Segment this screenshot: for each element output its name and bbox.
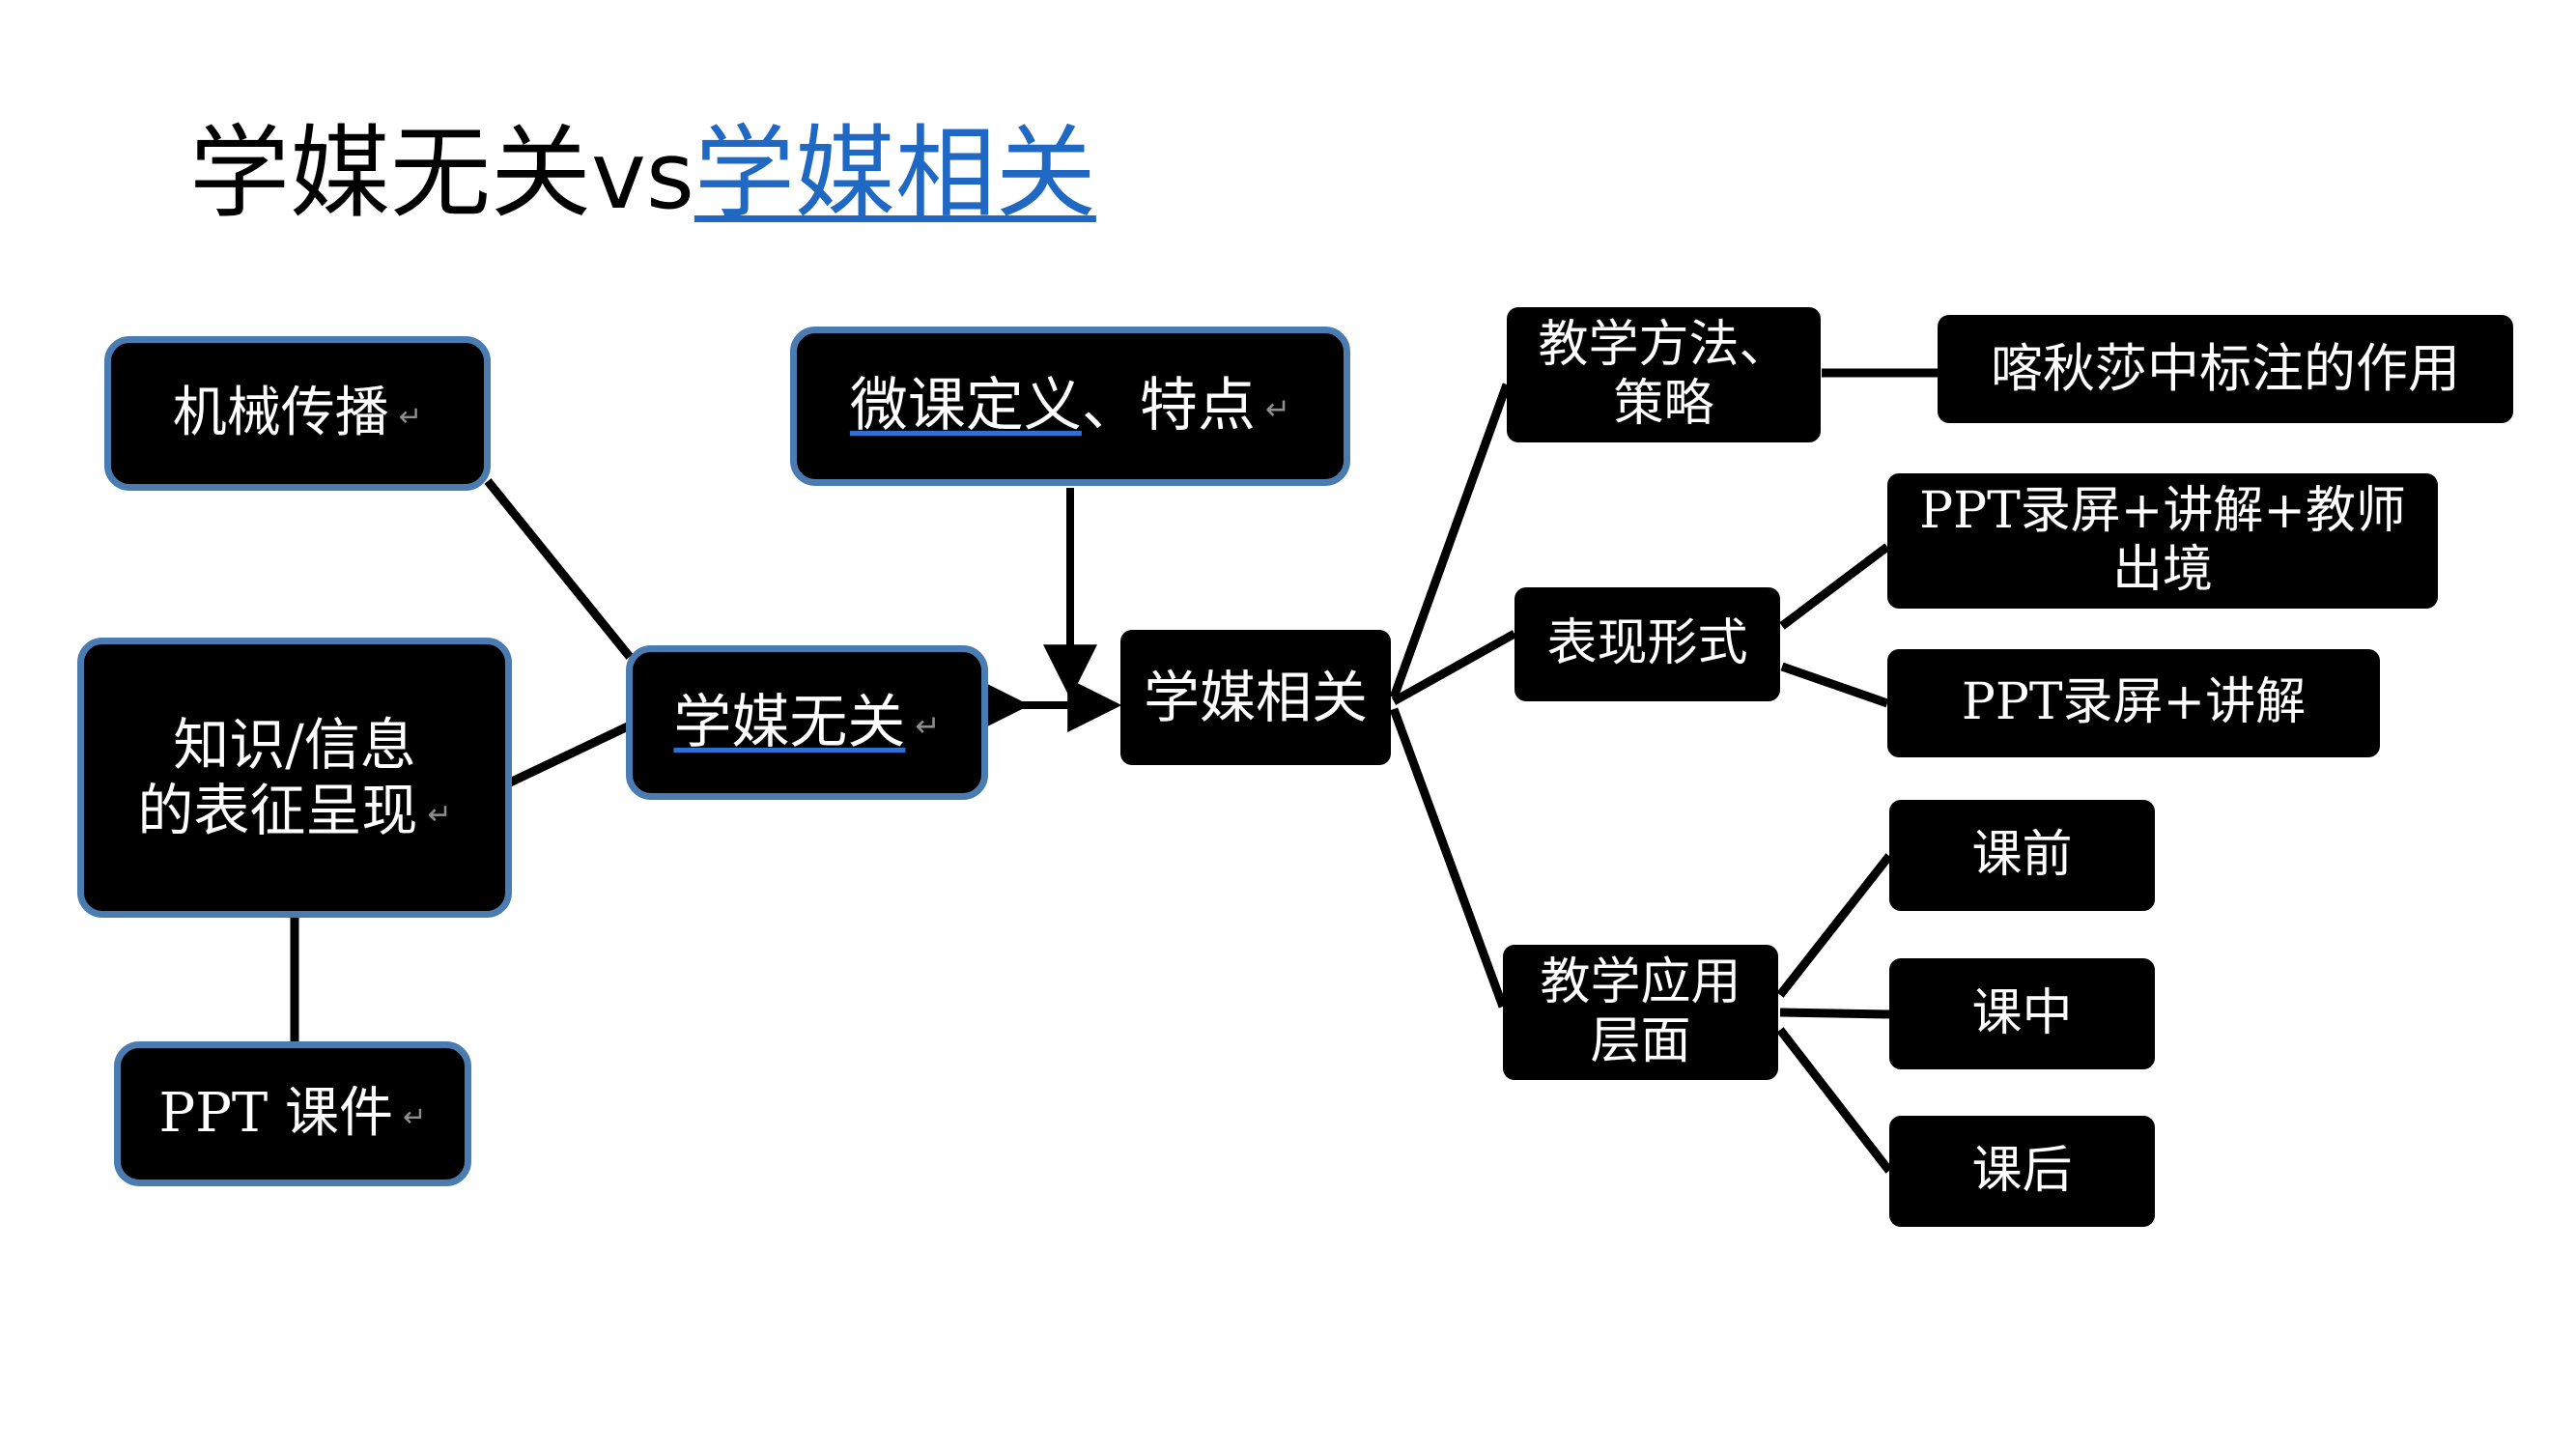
node-before-class-label: 课前 [1889,826,2155,885]
node-knowledge-information[interactable]: 知识/信息 的表征呈现↵ [77,638,512,918]
pilcrow-icon: ↵ [905,709,940,744]
connector-related-to-presentation-form [1394,634,1514,701]
connector-presentation-to-ppt-teacher [1782,547,1887,626]
node-application-level-line1: 教学应用 [1540,953,1741,1011]
node-knowledge-information-line2: 的表征呈现 [137,778,417,843]
connector-knowledge-to-independent [510,726,628,782]
node-media-independent[interactable]: 学媒无关↵ [626,645,988,800]
node-presentation-form-label: 表现形式 [1514,614,1780,673]
node-ppt-screen-lecture-teacher[interactable]: PPT录屏+讲解+教师 出境 [1887,473,2438,609]
node-micro-lesson-link-text[interactable]: 微课定义 [850,372,1082,440]
pilcrow-icon: ↵ [393,1100,426,1133]
node-media-related-label: 学媒相关 [1120,665,1391,730]
node-after-class-label: 课后 [1889,1142,2155,1201]
node-ppt-screen-lecture-label: PPT录屏+讲解 [1887,673,2380,732]
node-knowledge-information-line1: 知识/信息 [173,712,416,778]
title-blue-link-text[interactable]: 学媒相关 [694,114,1096,232]
node-teaching-method-line2: 策略 [1613,375,1713,433]
node-ppt-courseware-label: PPT 课件 [159,1082,394,1145]
connector-presentation-to-ppt-lecture [1782,667,1887,703]
node-application-level-line2: 层面 [1590,1012,1690,1070]
node-media-independent-label[interactable]: 学媒无关 [673,689,905,756]
node-katyusha-label: 喀秋莎中标注的作用 [1938,338,2513,400]
node-ppt-screen-lecture[interactable]: PPT录屏+讲解 [1887,649,2380,757]
node-ppt-courseware[interactable]: PPT 课件↵ [114,1041,471,1186]
page-title: 学媒无关vs学媒相关 [189,116,1096,232]
slide-canvas: 学媒无关vs学媒相关 [0,0,2576,1450]
connector-related-to-teaching-method [1394,384,1507,697]
node-micro-lesson-rest-text: 、特点 [1082,372,1256,440]
node-presentation-form[interactable]: 表现形式 [1514,587,1780,701]
node-ppt-screen-lecture-teacher-line1: PPT录屏+讲解+教师 [1919,482,2406,540]
connector-related-to-application-level [1394,709,1503,1007]
node-mechanical-transmission[interactable]: 机械传播↵ [104,336,491,491]
node-during-class[interactable]: 课中 [1889,958,2155,1069]
connector-application-to-before-class [1780,856,1889,995]
node-teaching-application-level[interactable]: 教学应用 层面 [1503,945,1778,1080]
node-teaching-method-strategy[interactable]: 教学方法、 策略 [1507,307,1821,442]
title-black-text: 学媒无关 [189,114,591,232]
node-micro-lesson-definition[interactable]: 微课定义、特点↵ [790,327,1350,486]
node-mechanical-transmission-label: 机械传播 [173,382,389,444]
connector-application-to-during-class [1780,1012,1889,1014]
node-before-class[interactable]: 课前 [1889,800,2155,911]
connector-mechanical-to-independent [488,481,630,657]
node-during-class-label: 课中 [1889,984,2155,1043]
title-vs-text: vs [591,122,694,230]
connector-application-to-after-class [1780,1030,1889,1171]
pilcrow-icon: ↵ [1256,392,1290,427]
node-media-related[interactable]: 学媒相关 [1120,630,1391,765]
pilcrow-icon: ↵ [417,798,451,832]
node-ppt-screen-lecture-teacher-line2: 出境 [2112,541,2213,599]
pilcrow-icon: ↵ [389,400,422,433]
node-teaching-method-line1: 教学方法、 [1538,316,1789,374]
node-after-class[interactable]: 课后 [1889,1116,2155,1227]
node-katyusha-annotation-role[interactable]: 喀秋莎中标注的作用 [1938,315,2513,423]
